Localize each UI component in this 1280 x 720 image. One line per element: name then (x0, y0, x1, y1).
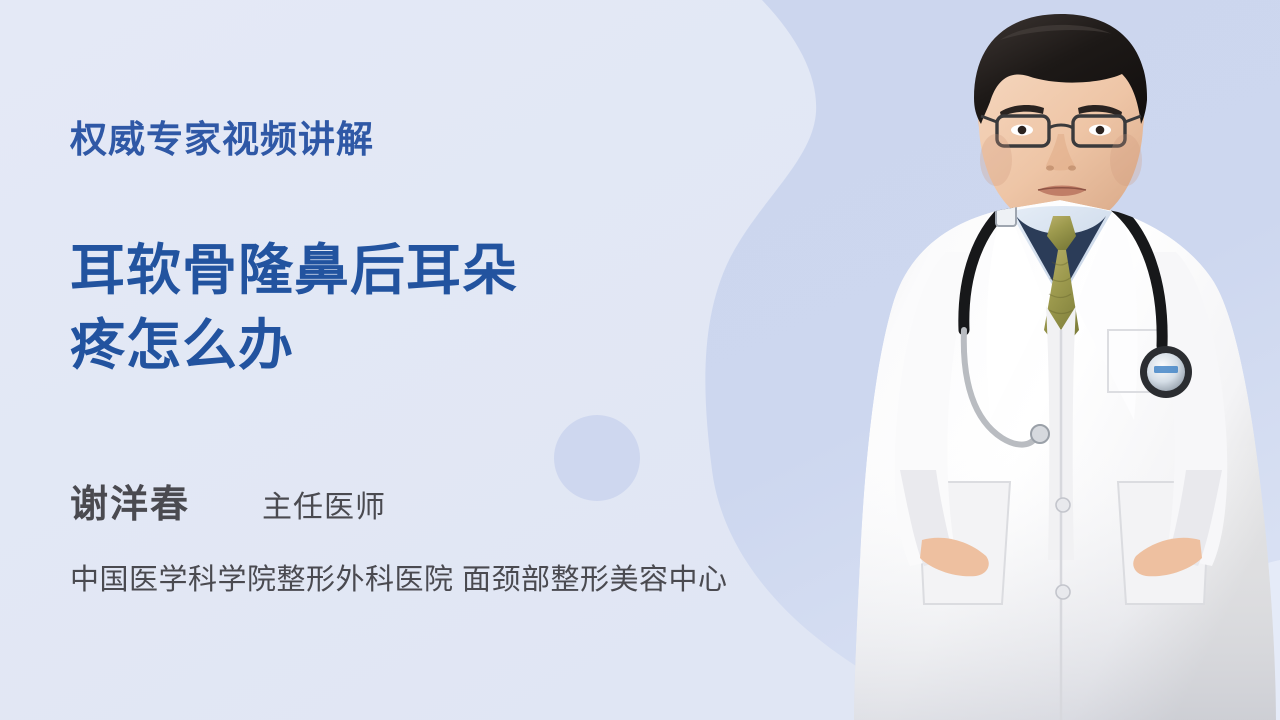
page-title-line-2: 疼怎么办 (70, 308, 750, 383)
doctor-identity-row: 谢洋春 主任医师 (70, 473, 386, 528)
doctor-affiliation: 中国医学科学院整形外科医院 面颈部整形美容中心 (70, 556, 728, 598)
banner-text-column: 权威专家视频讲解 耳软骨隆鼻后耳朵 疼怎么办 谢洋春 主任医师 中国医学科学院整… (70, 0, 770, 720)
left-cheek-shadow (980, 134, 1012, 186)
eyebrow-label: 权威专家视频讲解 (70, 118, 374, 162)
page-title: 耳软骨隆鼻后耳朵 疼怎么办 (70, 233, 750, 383)
page-title-line-1: 耳软骨隆鼻后耳朵 (70, 233, 750, 308)
left-pupil (1018, 126, 1027, 135)
right-nostril (1068, 165, 1076, 170)
doctor-name: 谢洋春 (70, 473, 190, 528)
doctor-rank: 主任医师 (262, 482, 386, 526)
stethoscope-brand-mark (1154, 366, 1178, 373)
coat-button-lower (1056, 585, 1070, 599)
coat-button-upper (1056, 498, 1070, 512)
doctor-portrait-photo (850, 0, 1280, 720)
white-coat (850, 196, 1280, 720)
left-nostril (1046, 165, 1054, 170)
stethoscope-earpiece (1031, 425, 1049, 443)
right-cheek-shadow (1110, 134, 1142, 186)
right-pupil (1096, 126, 1105, 135)
video-cover-banner: 权威专家视频讲解 耳软骨隆鼻后耳朵 疼怎么办 谢洋春 主任医师 中国医学科学院整… (0, 0, 1280, 720)
